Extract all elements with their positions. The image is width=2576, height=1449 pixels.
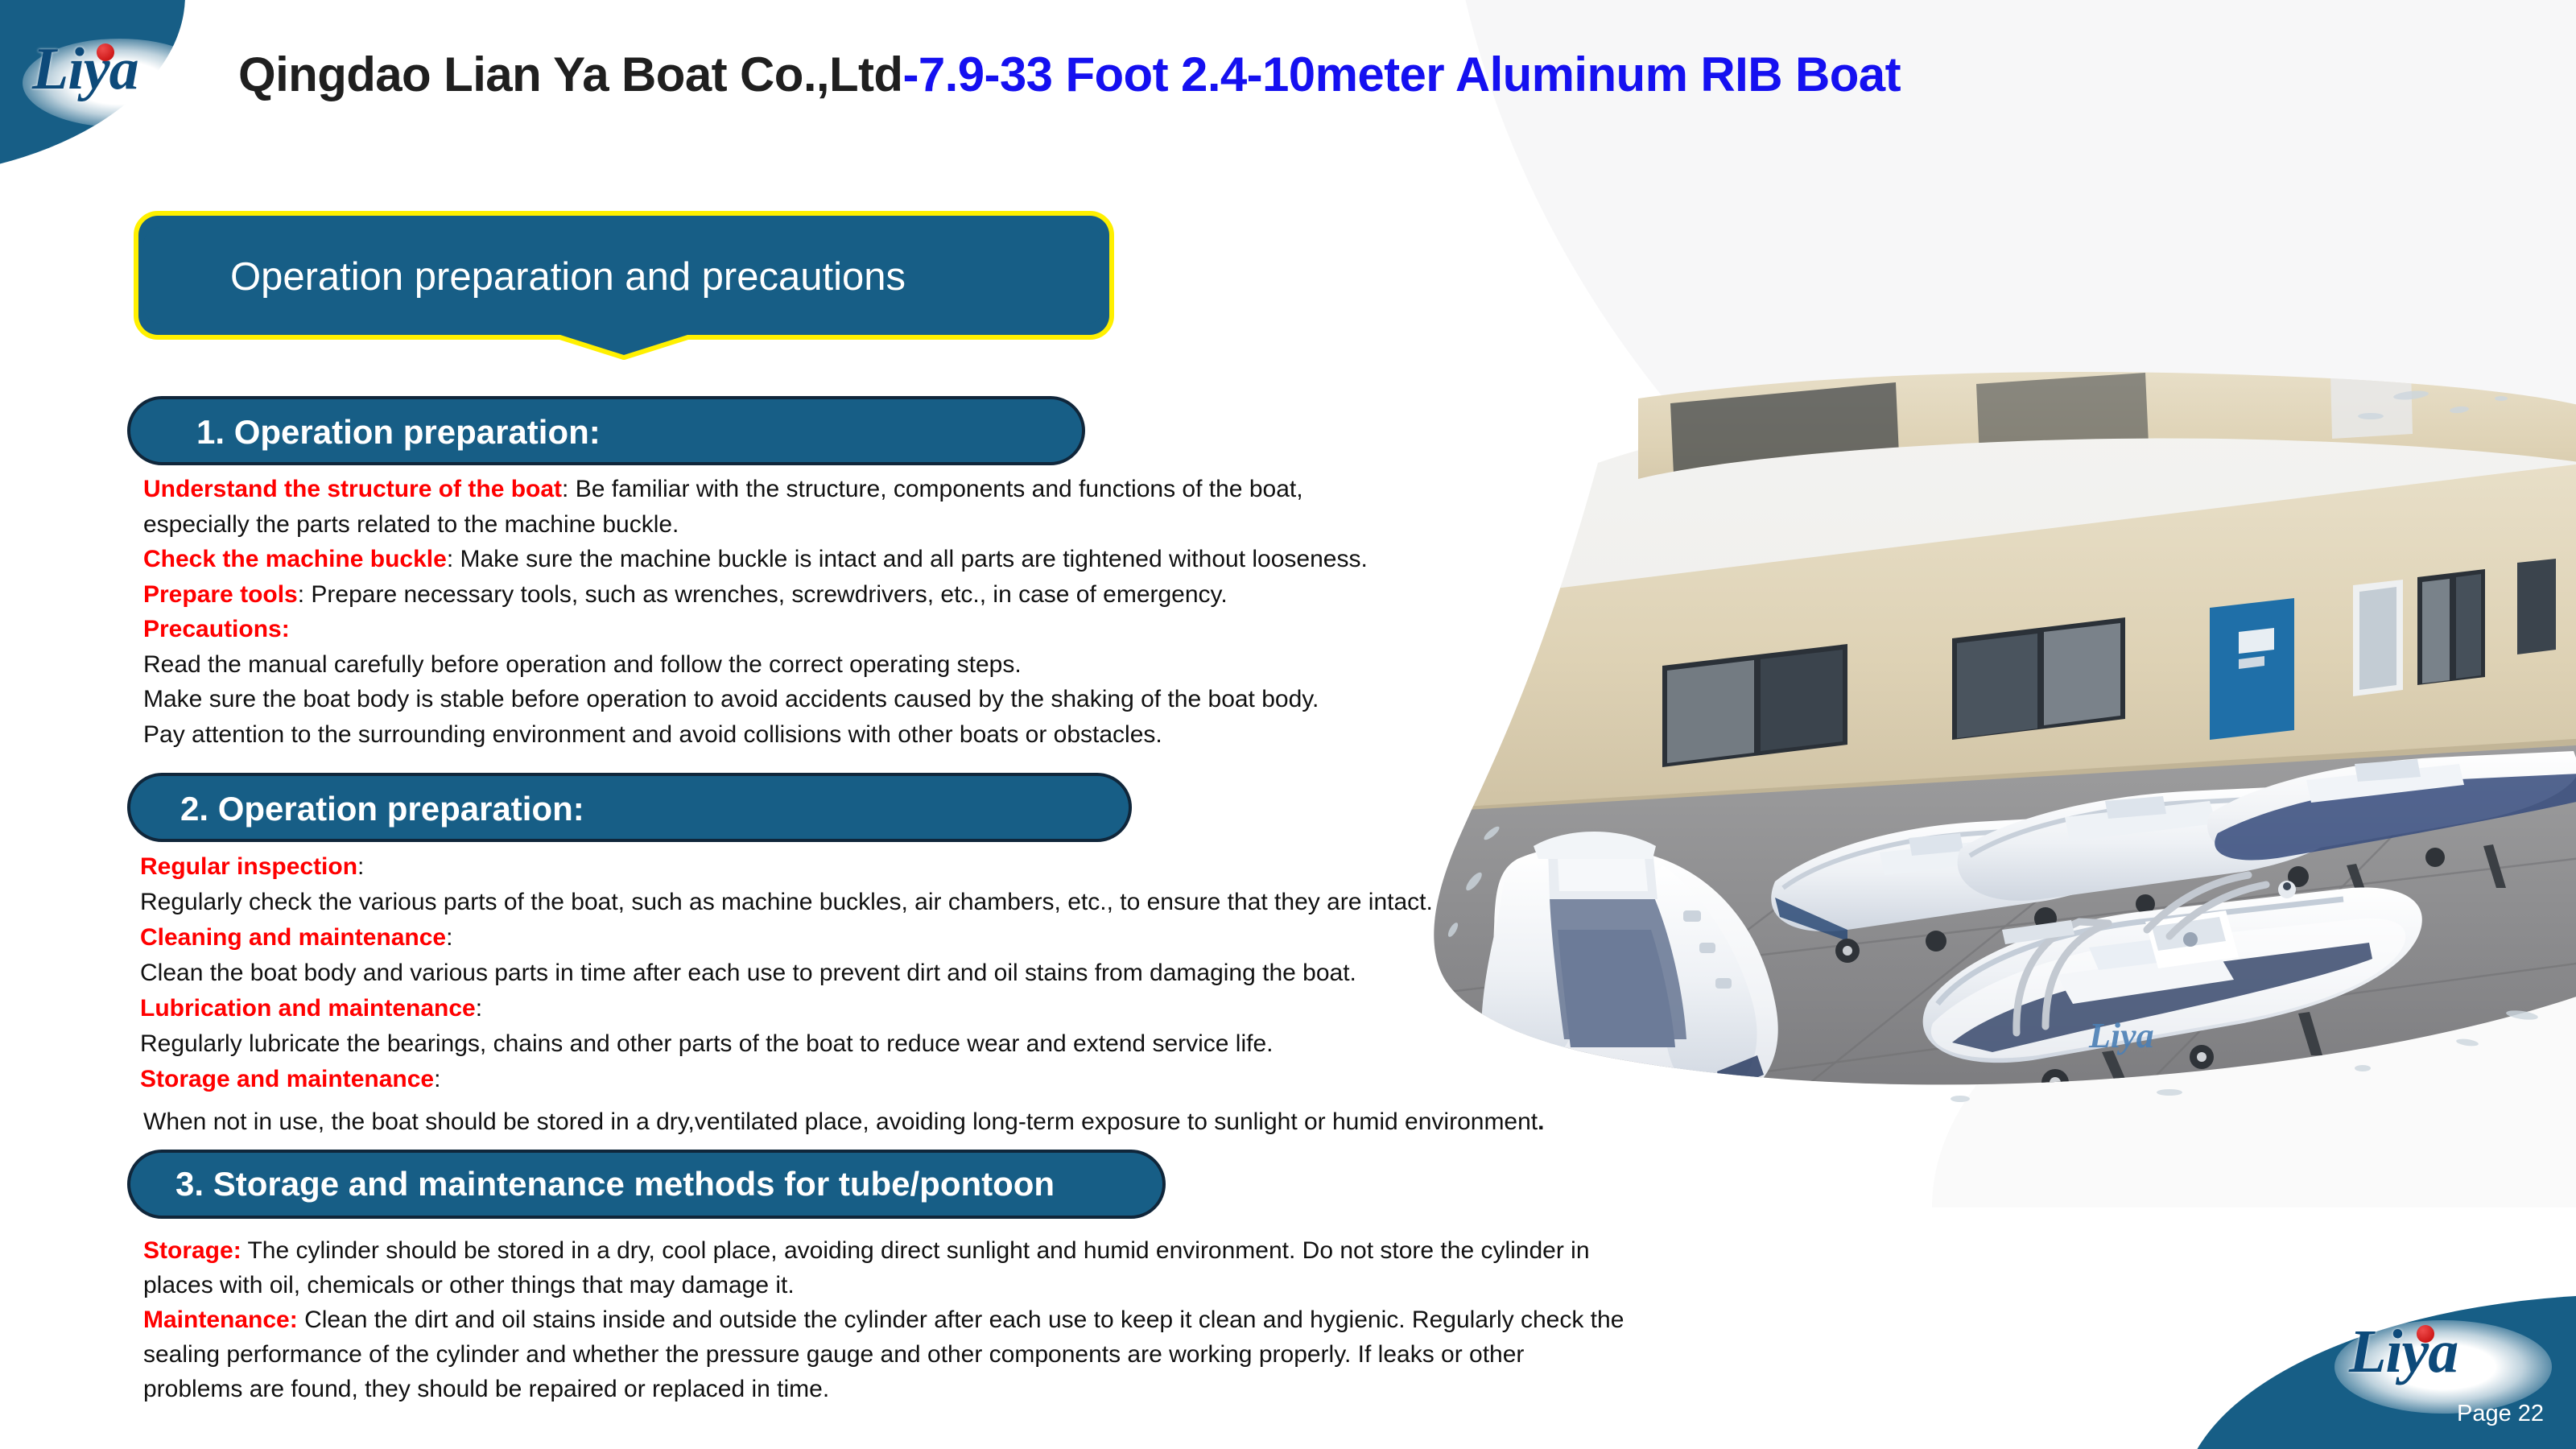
section-pill-1-label: 1. Operation preparation:: [196, 413, 601, 452]
body-text: [298, 1307, 304, 1333]
body-text: Read the manual carefully before operati…: [143, 651, 1022, 678]
body-text: :: [434, 1066, 440, 1092]
body-text: Prepare necessary tools, such as wrenche…: [311, 581, 1227, 608]
keyword: Cleaning and maintenance: [140, 924, 446, 951]
body-text: :: [447, 546, 460, 572]
body-text: Be familiar with the structure, componen…: [576, 476, 1303, 502]
body-line: Make sure the boat body is stable before…: [143, 682, 1368, 717]
keyword: Storage:: [143, 1237, 242, 1264]
body-text: Clean the boat body and various parts in…: [140, 960, 1356, 986]
page-title-company: Qingdao Lian Ya Boat Co.,Ltd: [238, 47, 902, 101]
body-text: Regularly lubricate the bearings, chains…: [140, 1030, 1274, 1057]
body-line: Cleaning and maintenance:: [140, 920, 1433, 956]
section-1-body: Understand the structure of the boat: Be…: [143, 472, 1368, 752]
slide-canvas: Liya Qingdao Lian Ya Boat Co.,Ltd-7.9-33…: [0, 0, 2576, 1449]
body-text: :: [446, 924, 452, 951]
section-callout-banner: Operation preparation and precautions: [134, 211, 1114, 360]
body-text: :: [562, 476, 576, 502]
page-title: Qingdao Lian Ya Boat Co.,Ltd-7.9-33 Foot…: [238, 47, 1901, 102]
body-line: Regularly check the various parts of the…: [140, 885, 1433, 920]
callout-banner-label: Operation preparation and precautions: [230, 254, 906, 299]
body-line: Regularly lubricate the bearings, chains…: [140, 1026, 1433, 1062]
body-line: Lubrication and maintenance:: [140, 991, 1433, 1026]
keyword: Precautions:: [143, 616, 290, 642]
body-line: Regular inspection:: [140, 849, 1433, 885]
body-line: especially the parts related to the mach…: [143, 507, 1368, 543]
keyword: Lubrication and maintenance: [140, 995, 476, 1022]
body-line: Read the manual carefully before operati…: [143, 647, 1368, 683]
body-line: places with oil, chemicals or other thin…: [143, 1268, 1624, 1302]
keyword: Prepare tools: [143, 581, 298, 608]
body-line: Prepare tools: Prepare necessary tools, …: [143, 577, 1368, 613]
body-text: Make sure the machine buckle is intact a…: [460, 546, 1367, 572]
body-line: Pay attention to the surrounding environ…: [143, 717, 1368, 753]
logo-wordmark-bottom-right: Liya: [2349, 1317, 2458, 1387]
body-text: especially the parts related to the mach…: [143, 511, 679, 538]
body-line: Understand the structure of the boat: Be…: [143, 472, 1368, 507]
logo-red-dot-icon-bottom-right: [2417, 1325, 2434, 1343]
body-text: Regularly check the various parts of the…: [140, 889, 1433, 915]
body-line: Check the machine buckle: Make sure the …: [143, 542, 1368, 577]
page-number: Page 22: [2457, 1401, 2544, 1427]
photo-hull-watermark: Liya: [2088, 1016, 2154, 1055]
body-text: places with oil, chemicals or other thin…: [143, 1272, 795, 1298]
section-2-body: Regular inspection: Regularly check the …: [140, 849, 1433, 1097]
body-text: :: [476, 995, 482, 1022]
body-text: problems are found, they should be repai…: [143, 1376, 829, 1402]
body-text: Clean the dirt and oil stains inside and…: [304, 1307, 1624, 1333]
body-text: Pay attention to the surrounding environ…: [143, 721, 1162, 748]
logo-red-dot-icon-top-left: [97, 43, 114, 61]
section-pill-2-label: 2. Operation preparation:: [180, 790, 584, 828]
body-text: The cylinder should be stored in a dry, …: [247, 1237, 1589, 1264]
body-line: sealing performance of the cylinder and …: [143, 1337, 1624, 1372]
body-text: :: [357, 853, 364, 880]
body-line: Maintenance: Clean the dirt and oil stai…: [143, 1302, 1624, 1337]
body-line: Clean the boat body and various parts in…: [140, 956, 1433, 991]
logo-wordmark-top-left: Liya: [32, 35, 138, 104]
keyword: Understand the structure of the boat: [143, 476, 562, 502]
body-line: Precautions:: [143, 612, 1368, 647]
body-text: sealing performance of the cylinder and …: [143, 1341, 1524, 1368]
product-photo: Liya: [1397, 366, 2576, 1111]
page-title-product: -7.9-33 Foot 2.4-10meter Aluminum RIB Bo…: [902, 47, 1901, 101]
product-photo-brush-mask: Liya: [1397, 366, 2576, 1111]
body-line: When not in use, the boat should be stor…: [143, 1104, 1544, 1140]
keyword: Maintenance:: [143, 1307, 298, 1333]
keyword: Storage and maintenance: [140, 1066, 434, 1092]
keyword: Check the machine buckle: [143, 546, 447, 572]
section-2-trailing-line: When not in use, the boat should be stor…: [143, 1104, 1544, 1140]
body-line: Storage: The cylinder should be stored i…: [143, 1233, 1624, 1268]
section-3-body: Storage: The cylinder should be stored i…: [143, 1233, 1624, 1406]
body-text: :: [298, 581, 312, 608]
body-text: .: [1538, 1108, 1544, 1135]
body-text: Make sure the boat body is stable before…: [143, 686, 1319, 712]
body-line: Storage and maintenance:: [140, 1062, 1433, 1097]
section-pill-3-label: 3. Storage and maintenance methods for t…: [175, 1165, 1055, 1203]
body-text: When not in use, the boat should be stor…: [143, 1108, 1538, 1135]
keyword: Regular inspection: [140, 853, 357, 880]
body-line: problems are found, they should be repai…: [143, 1372, 1624, 1406]
